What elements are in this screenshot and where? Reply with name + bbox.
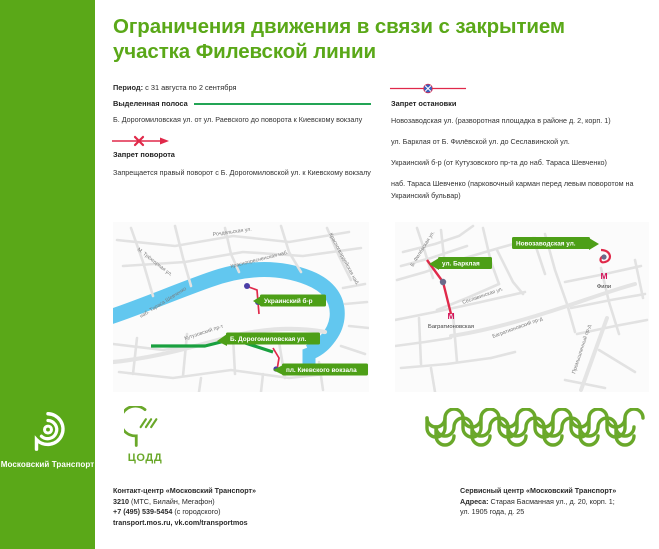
map-right-callout-novozavodskaya[interactable]: Новозаводская ул. bbox=[512, 237, 599, 250]
contact-short-number: 3210 bbox=[113, 497, 129, 506]
service-address-value: Старая Басманная ул., д. 20, корп. 1; bbox=[489, 497, 615, 506]
map-left-callout-label: пл. Киевского вокзала bbox=[286, 367, 357, 374]
legend-column-right: Запрет остановки Новозаводская ул. (разв… bbox=[391, 82, 649, 211]
lane-note: Б. Дорогомиловская ул. от ул. Раевского … bbox=[113, 113, 371, 126]
map-fili-area[interactable]: M Багратионовская M Фили Б. Филёвская ул… bbox=[395, 222, 649, 392]
stop-item: наб. Тараса Шевченко (парковочный карман… bbox=[391, 178, 649, 202]
metro-m-glyph: M bbox=[447, 311, 454, 321]
contact-center-title: Контакт-центр «Московский Транспорт» bbox=[113, 486, 363, 497]
turn-note: Запрещается правый поворот с Б. Дорогоми… bbox=[113, 166, 371, 179]
stop-item: Украинский б-р (от Кутузовского пр-та до… bbox=[391, 157, 649, 169]
turn-legend-label: Запрет поворота bbox=[113, 150, 371, 159]
service-address-value-2: ул. 1905 года, д. 25 bbox=[460, 507, 655, 518]
service-center-block: Сервисный центр «Московский Транспорт» А… bbox=[460, 486, 655, 518]
metro-station-label: Фили bbox=[597, 284, 611, 290]
dedicated-lane-line-icon bbox=[194, 103, 371, 105]
no-stopping-icon bbox=[389, 82, 467, 95]
page-title: Ограничения движения в связи с закрытием… bbox=[113, 14, 633, 64]
map-left-callout-kievsky-square[interactable]: пл. Киевского вокзала bbox=[273, 364, 368, 376]
map-right-callout-barklaya[interactable]: ул. Барклая bbox=[429, 257, 492, 270]
map-kievsky-area[interactable]: Рочдельская ул. М. Трёхгорная ул. Красно… bbox=[113, 222, 369, 392]
period-label: Период: bbox=[113, 83, 143, 92]
metro-m-glyph: M bbox=[600, 271, 607, 281]
map-right-callout-label: ул. Барклая bbox=[442, 261, 480, 268]
metro-station-label: Багратионовская bbox=[428, 324, 474, 330]
contact-center-block: Контакт-центр «Московский Транспорт» 321… bbox=[113, 486, 363, 528]
map-right-canvas: M Багратионовская M Фили Б. Филёвская ул… bbox=[395, 222, 649, 392]
brand-sidebar: Московский Транспорт bbox=[0, 0, 95, 549]
contact-phone-row: +7 (495) 539-5454 (с городского) bbox=[113, 507, 363, 518]
map-left-callout-label: Украинский б-р bbox=[264, 297, 313, 305]
map-right-callout-label: Новозаводская ул. bbox=[516, 241, 576, 248]
legend-column-left: Период: с 31 августа по 2 сентября Выдел… bbox=[113, 82, 371, 187]
service-address-label: Адреса: bbox=[460, 497, 489, 506]
service-address-row: Адреса: Старая Басманная ул., д. 20, кор… bbox=[460, 497, 655, 508]
service-center-title: Сервисный центр «Московский Транспорт» bbox=[460, 486, 655, 497]
poster-root: Московский Транспорт Ограничения движени… bbox=[0, 0, 659, 549]
codd-logo: ЦОДД bbox=[113, 406, 177, 464]
contact-web-links[interactable]: transport.mos.ru, vk.com/transportmos bbox=[113, 518, 363, 529]
period-row: Период: с 31 августа по 2 сентября bbox=[113, 82, 371, 93]
codd-logo-text: ЦОДД bbox=[113, 452, 177, 464]
codd-pin-icon bbox=[124, 406, 166, 450]
map-left-callout-dorogomilovskaya[interactable]: Б. Дорогомиловская ул. bbox=[217, 333, 320, 347]
stop-legend-label: Запрет остановки bbox=[391, 99, 649, 108]
map-left-callout-label: Б. Дорогомиловская ул. bbox=[230, 336, 307, 343]
contact-phone-note: (с городского) bbox=[172, 507, 220, 516]
lane-legend-row: Выделенная полоса bbox=[113, 99, 371, 108]
no-right-turn-icon bbox=[111, 134, 171, 148]
contact-short-number-note: (МТС, Билайн, Мегафон) bbox=[129, 497, 215, 506]
stop-item: ул. Барклая от Б. Филёвской ул. до Сесла… bbox=[391, 136, 649, 148]
moscow-transport-logo: Московский Транспорт bbox=[0, 408, 95, 470]
contact-short-number-row: 3210 (МТС, Билайн, Мегафон) bbox=[113, 497, 363, 508]
moscow-transport-logo-text: Московский Транспорт bbox=[1, 460, 95, 470]
map-left-callout-ukrainsky[interactable]: Украинский б-р bbox=[253, 295, 326, 307]
lane-legend-label: Выделенная полоса bbox=[113, 99, 188, 108]
wave-decoration bbox=[425, 408, 647, 448]
map-left-canvas: Рочдельская ул. М. Трёхгорная ул. Красно… bbox=[113, 222, 369, 392]
contact-phone: +7 (495) 539-5454 bbox=[113, 507, 172, 516]
stop-item: Новозаводская ул. (разворотная площадка … bbox=[391, 115, 649, 127]
transport-pin-icon bbox=[25, 408, 71, 454]
period-value: с 31 августа по 2 сентября bbox=[145, 83, 236, 92]
